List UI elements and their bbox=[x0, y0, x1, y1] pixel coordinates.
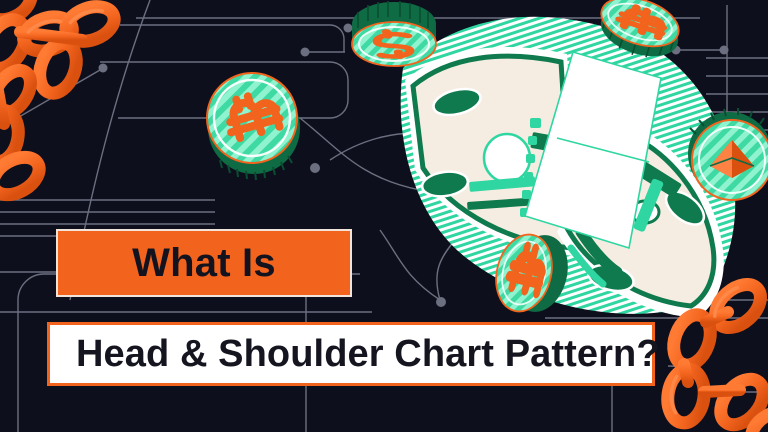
ethereum-coin-right bbox=[686, 112, 768, 208]
bitcoin-coin-center bbox=[490, 228, 576, 318]
bitcoin-coin-large bbox=[200, 68, 308, 176]
thumbnail-canvas: What Is Head & Shoulder Chart Pattern? bbox=[0, 0, 768, 432]
title-box-white: Head & Shoulder Chart Pattern? bbox=[47, 322, 655, 386]
dollar-coin-top bbox=[348, 0, 440, 74]
chain-bottom-right bbox=[648, 278, 768, 432]
title-line-1: What Is bbox=[132, 243, 276, 283]
bitcoin-coin-top-right bbox=[598, 0, 684, 60]
title-line-2: Head & Shoulder Chart Pattern? bbox=[76, 335, 660, 373]
chain-top-left bbox=[0, 0, 136, 184]
title-box-orange: What Is bbox=[56, 229, 352, 297]
